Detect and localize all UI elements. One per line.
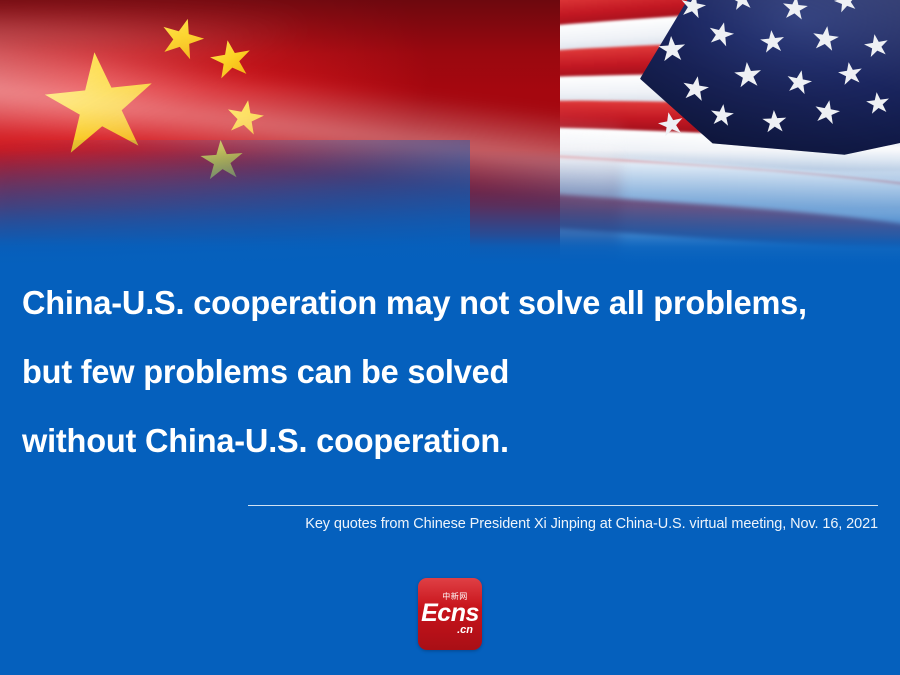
banner-bottom-fade — [0, 236, 900, 270]
caption-block: Key quotes from Chinese President Xi Jin… — [248, 505, 878, 534]
quote-line-3: without China-U.S. cooperation. — [22, 406, 871, 475]
quote-block: China-U.S. cooperation may not solve all… — [22, 268, 884, 475]
logo-wordmark: Ecns — [418, 600, 482, 627]
logo-tld: .cn — [457, 624, 473, 636]
quote-line-2: but few problems can be solved — [22, 337, 871, 406]
ecns-logo[interactable]: 中新网 Ecns .cn — [418, 578, 482, 650]
china-flag-glow — [0, 20, 300, 140]
caption-divider-rule — [248, 505, 878, 506]
quote-line-1: China-U.S. cooperation may not solve all… — [22, 268, 871, 337]
caption-text: Key quotes from Chinese President Xi Jin… — [248, 514, 878, 534]
china-us-flags-banner — [0, 0, 900, 270]
poster-canvas: China-U.S. cooperation may not solve all… — [0, 0, 900, 675]
